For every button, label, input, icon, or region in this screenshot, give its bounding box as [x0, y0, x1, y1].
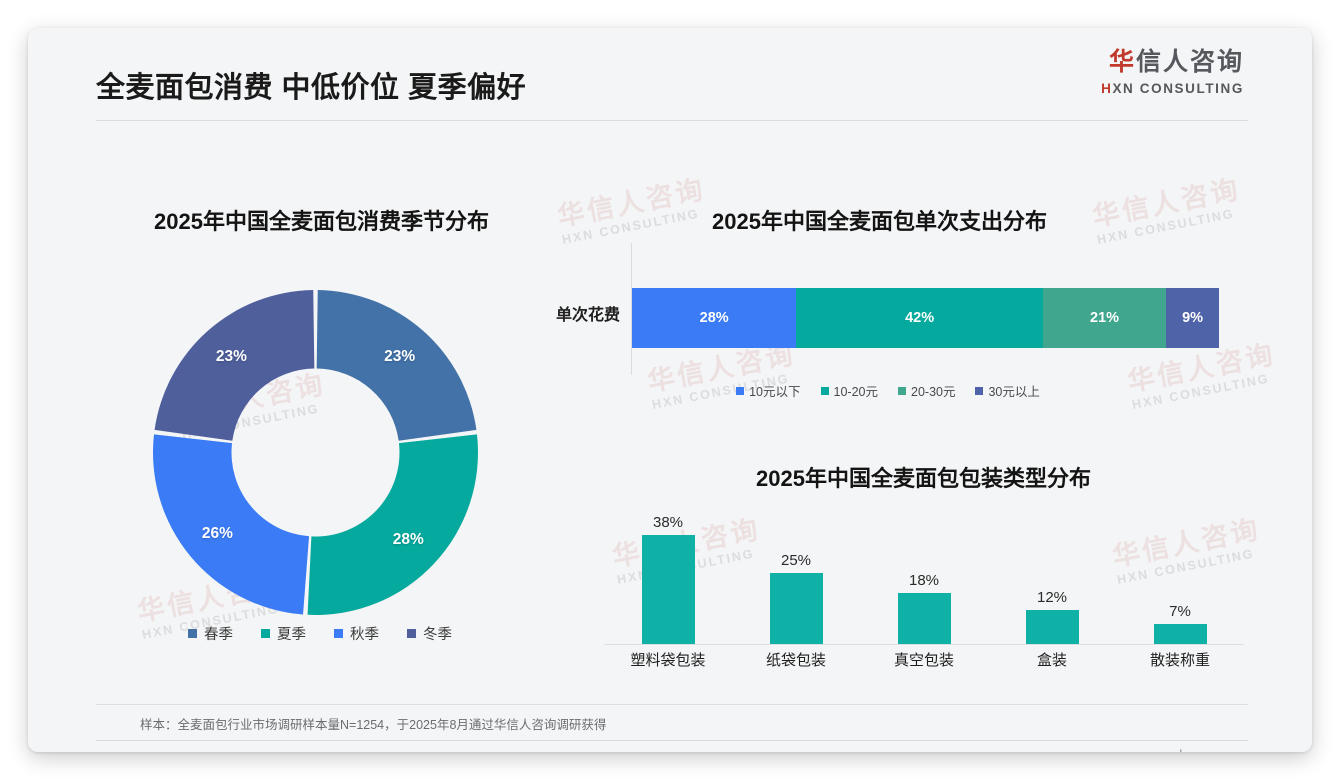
- stacked-bar-segment-30元以上[interactable]: 9%: [1166, 288, 1219, 348]
- stacked-bar-legend-label: 30元以上: [988, 381, 1039, 400]
- packaging-bar-column[interactable]: 38%: [642, 514, 695, 644]
- donut-slice-label: 26%: [202, 525, 233, 543]
- donut-svg: [153, 290, 478, 615]
- donut-chart-title: 2025年中国全麦面包消费季节分布: [154, 204, 489, 236]
- packaging-bar-value: 12%: [1037, 589, 1067, 606]
- donut-legend-item[interactable]: 秋季: [334, 623, 379, 644]
- packaging-bar-chart: 38%塑料袋包装25%纸袋包装18%真空包装12%盒装7%散装称重: [596, 506, 1248, 691]
- packaging-bar-value: 18%: [909, 572, 939, 589]
- packaging-bar-rect[interactable]: [898, 593, 951, 644]
- donut-legend-item[interactable]: 春季: [188, 623, 233, 644]
- brand-logo: 华信人咨询 HXN CONSULTING: [1101, 50, 1244, 96]
- spend-chart-title: 2025年中国全麦面包单次支出分布: [712, 204, 1047, 236]
- packaging-bar-plot: 38%塑料袋包装25%纸袋包装18%真空包装12%盒装7%散装称重: [596, 506, 1248, 668]
- stacked-bar-track: 28%42%21%9%: [632, 288, 1219, 348]
- logo-chinese: 华信人咨询: [1101, 50, 1244, 75]
- stacked-bar-legend-label: 20-30元: [911, 381, 955, 400]
- legend-swatch-icon: [736, 387, 744, 395]
- logo-english: HXN CONSULTING: [1101, 82, 1244, 96]
- logo-english-accent: H: [1101, 81, 1112, 96]
- stacked-bar-legend-label: 10-20元: [834, 381, 878, 400]
- packaging-bar-column[interactable]: 7%: [1154, 603, 1207, 644]
- packaging-bar-column[interactable]: 12%: [1026, 589, 1079, 644]
- watermark-line1: 华信人咨询: [1090, 174, 1243, 233]
- page-title: 全麦面包消费 中低价位 夏季偏好: [96, 64, 526, 106]
- stacked-bar-legend-item[interactable]: 10元以下: [736, 381, 800, 400]
- packaging-bar-rect[interactable]: [642, 535, 695, 644]
- logo-chinese-rest: 信人咨询: [1136, 48, 1244, 76]
- packaging-bar-rect[interactable]: [770, 573, 823, 644]
- watermark: 华信人咨询 HXN CONSULTING: [1090, 174, 1246, 247]
- packaging-bar-column[interactable]: 18%: [898, 572, 951, 644]
- legend-swatch-icon: [188, 629, 197, 638]
- footer-divider: [96, 740, 1248, 741]
- donut-slice-label: 28%: [393, 531, 424, 549]
- logo-chinese-accent: 华: [1109, 48, 1136, 76]
- legend-swatch-icon: [261, 629, 270, 638]
- logo-english-rest: XN CONSULTING: [1112, 81, 1244, 96]
- header-divider: [96, 120, 1248, 121]
- stacked-bar-legend-label: 10元以下: [749, 381, 800, 400]
- sample-note: 样本：全麦面包行业市场调研样本量N=1254，于2025年8月通过华信人咨询调研…: [140, 714, 606, 733]
- watermark: 华信人咨询 HXN CONSULTING: [555, 174, 711, 247]
- donut-legend-label: 夏季: [277, 623, 306, 644]
- slide-canvas: 华信人咨询 HXN CONSULTING 华信人咨询 HXN CONSULTIN…: [28, 28, 1312, 752]
- watermark-line2: HXN CONSULTING: [1096, 205, 1246, 248]
- packaging-bar-category-label: 塑料袋包装: [603, 649, 733, 670]
- legend-swatch-icon: [898, 387, 906, 395]
- copyright-text: ©2025.10 HXR华信人咨询: [96, 748, 243, 752]
- packaging-bar-category-label: 盒装: [987, 649, 1117, 670]
- packaging-bar-category-label: 纸袋包装: [731, 649, 861, 670]
- legend-swatch-icon: [407, 629, 416, 638]
- donut-slice-label: 23%: [216, 348, 247, 366]
- watermark-line2: HXN CONSULTING: [561, 205, 711, 248]
- stacked-bar-legend-item[interactable]: 20-30元: [898, 381, 955, 400]
- sample-divider: [96, 704, 1248, 705]
- legend-swatch-icon: [975, 387, 983, 395]
- donut-legend-item[interactable]: 夏季: [261, 623, 306, 644]
- packaging-bar-category-label: 散装称重: [1115, 649, 1245, 670]
- legend-swatch-icon: [821, 387, 829, 395]
- packaging-bar-category-label: 真空包装: [859, 649, 989, 670]
- packaging-baseline: [604, 644, 1244, 645]
- stacked-bar-segment-20-30元[interactable]: 21%: [1043, 288, 1166, 348]
- donut-legend-label: 春季: [204, 623, 233, 644]
- stacked-bar-legend: 10元以下10-20元20-30元30元以上: [528, 381, 1248, 400]
- stacked-bar-segment-10-20元[interactable]: 42%: [796, 288, 1043, 348]
- legend-swatch-icon: [334, 629, 343, 638]
- stacked-bar-legend-item[interactable]: 10-20元: [821, 381, 878, 400]
- donut-legend-item[interactable]: 冬季: [407, 623, 452, 644]
- slide-header: 全麦面包消费 中低价位 夏季偏好 华信人咨询 HXN CONSULTING: [28, 28, 1312, 121]
- watermark-line1: 华信人咨询: [555, 174, 708, 233]
- stacked-bar-segment-10元以下[interactable]: 28%: [632, 288, 796, 348]
- donut-slice-label: 23%: [384, 348, 415, 366]
- website-text: www.hxrcon.com: [1150, 748, 1244, 752]
- packaging-bar-value: 7%: [1169, 603, 1191, 620]
- packaging-bar-value: 25%: [781, 552, 811, 569]
- donut-legend: 春季夏季秋季冬季: [188, 623, 452, 644]
- donut-slice-夏季[interactable]: [308, 434, 478, 615]
- packaging-bar-value: 38%: [653, 514, 683, 531]
- packaging-chart-title: 2025年中国全麦面包包装类型分布: [756, 461, 1091, 493]
- packaging-bar-rect[interactable]: [1026, 610, 1079, 644]
- packaging-bar-rect[interactable]: [1154, 624, 1207, 644]
- donut-legend-label: 冬季: [423, 623, 452, 644]
- donut-legend-label: 秋季: [350, 623, 379, 644]
- season-donut-chart: 23%28%26%23%: [153, 290, 478, 615]
- stacked-bar-legend-item[interactable]: 30元以上: [975, 381, 1039, 400]
- spend-stacked-bar-chart: 单次花费 28%42%21%9% 10元以下10-20元20-30元30元以上: [528, 243, 1248, 388]
- packaging-bar-column[interactable]: 25%: [770, 552, 823, 644]
- stacked-bar-category-label: 单次花费: [528, 301, 620, 325]
